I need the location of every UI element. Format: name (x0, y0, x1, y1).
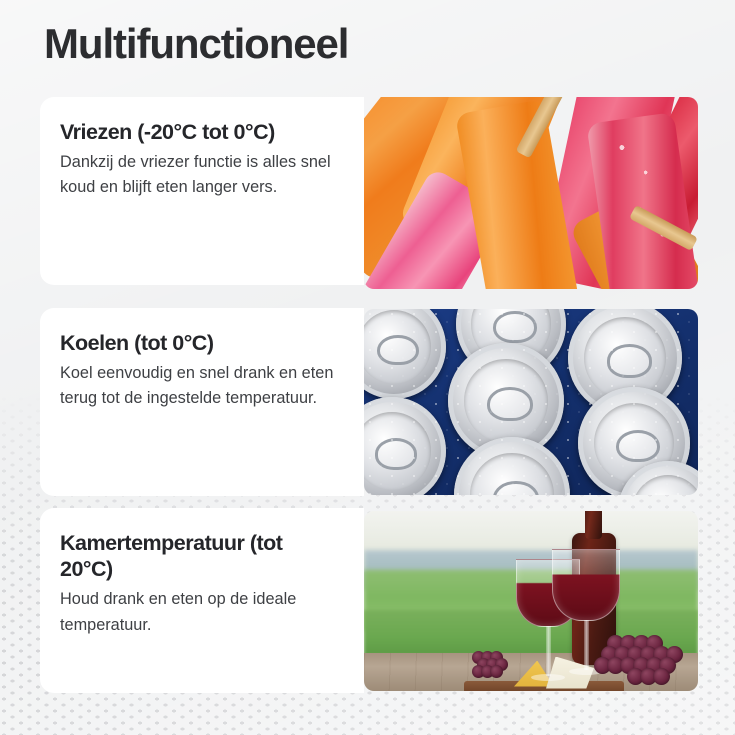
card-body: Houd drank en eten op de ideale temperat… (60, 587, 338, 638)
grape-bunch (594, 635, 694, 691)
soda-cans-photo (364, 309, 698, 495)
multifunctional-infographic: Multifunctioneel Vriezen (-20°C tot 0°C)… (0, 0, 735, 735)
feature-card-koelen: Koelen (tot 0°C) Koel eenvoudig en snel … (40, 308, 698, 496)
grape-bunch (472, 651, 518, 687)
card-title: Vriezen (-20°C tot 0°C) (60, 119, 338, 145)
card-text-panel: Koelen (tot 0°C) Koel eenvoudig en snel … (40, 308, 364, 496)
soda-can (364, 309, 446, 399)
glass-foot (531, 674, 565, 681)
popsicles-photo (364, 97, 698, 289)
soda-can (364, 397, 446, 495)
card-text-panel: Kamertemperatuur (tot 20°C) Houd drank e… (40, 508, 364, 693)
card-title: Koelen (tot 0°C) (60, 330, 338, 356)
feature-card-vriezen: Vriezen (-20°C tot 0°C) Dankzij de vriez… (40, 97, 698, 289)
page-title: Multifunctioneel (44, 20, 348, 68)
glass-stem (546, 626, 551, 676)
card-title: Kamertemperatuur (tot 20°C) (60, 530, 338, 582)
soda-cans-illustration (364, 309, 698, 495)
popsicles-illustration (364, 97, 698, 289)
glass-stem (584, 620, 589, 670)
wine-and-grapes-photo (364, 511, 698, 691)
card-body: Koel eenvoudig en snel drank en eten ter… (60, 361, 338, 412)
feature-card-kamertemperatuur: Kamertemperatuur (tot 20°C) Houd drank e… (40, 508, 698, 693)
card-body: Dankzij de vriezer functie is alles snel… (60, 150, 338, 201)
card-text-panel: Vriezen (-20°C tot 0°C) Dankzij de vriez… (40, 97, 364, 285)
wine-landscape-illustration (364, 511, 698, 691)
wine-glass (552, 549, 620, 621)
